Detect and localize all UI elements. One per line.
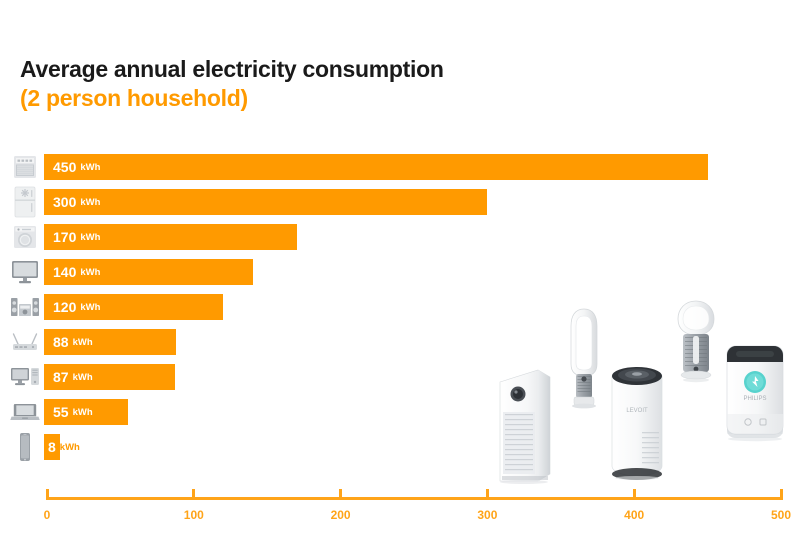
bar: 300kWh bbox=[44, 189, 487, 215]
bar-value-label: 450 bbox=[53, 160, 76, 174]
axis-tick bbox=[339, 489, 342, 500]
washing-machine-icon bbox=[8, 222, 42, 252]
axis-tick-label: 500 bbox=[771, 509, 791, 521]
bar-unit-label: kWh bbox=[73, 373, 93, 383]
axis-tick bbox=[486, 489, 489, 500]
bar: 120kWh bbox=[44, 294, 223, 320]
wifi-router-icon bbox=[8, 327, 42, 357]
bar-value-label: 140 bbox=[53, 265, 76, 279]
bar-value-label: 300 bbox=[53, 195, 76, 209]
refrigerator-icon bbox=[8, 187, 42, 217]
chart-page: Average annual electricity consumption (… bbox=[0, 0, 800, 533]
axis-tick-label: 300 bbox=[477, 509, 497, 521]
bar-value-label: 120 bbox=[53, 300, 76, 314]
bar-unit-label: kWh bbox=[80, 303, 100, 313]
chart-row: 300kWh bbox=[0, 187, 800, 217]
laptop-icon bbox=[8, 397, 42, 427]
product-photo-cluster: LEVOIT bbox=[488, 292, 793, 492]
bar-value-label: 55 bbox=[53, 405, 69, 419]
bar: 140kWh bbox=[44, 259, 253, 285]
bar: 87kWh bbox=[44, 364, 175, 390]
axis-tick bbox=[192, 489, 195, 500]
bar-unit-label: kWh bbox=[60, 443, 80, 453]
television-icon bbox=[8, 257, 42, 287]
bar: 88kWh bbox=[44, 329, 176, 355]
axis-tick-label: 100 bbox=[184, 509, 204, 521]
bar-unit-label: kWh bbox=[73, 338, 93, 348]
axis-tick bbox=[633, 489, 636, 500]
bar: 8kWh bbox=[44, 434, 60, 460]
desktop-computer-icon bbox=[8, 362, 42, 392]
chart-row: 170kWh bbox=[0, 222, 800, 252]
axis-line bbox=[47, 497, 781, 500]
bar-unit-label: kWh bbox=[73, 408, 93, 418]
xiaomi-tower-air-purifier bbox=[494, 368, 554, 484]
smartphone-icon bbox=[8, 432, 42, 462]
stereo-system-icon bbox=[8, 292, 42, 322]
bar-value-label: 170 bbox=[53, 230, 76, 244]
axis-tick-label: 200 bbox=[331, 509, 351, 521]
bar-unit-label: kWh bbox=[80, 198, 100, 208]
svg-text:LEVOIT: LEVOIT bbox=[626, 408, 648, 414]
bar: 55kWh bbox=[44, 399, 128, 425]
chart-row: 450kWh bbox=[0, 152, 800, 182]
philips-air-purifier: PHILIPS bbox=[722, 340, 788, 442]
page-title: Average annual electricity consumption (… bbox=[20, 56, 444, 112]
bar-unit-label: kWh bbox=[80, 233, 100, 243]
axis-tick bbox=[46, 489, 49, 500]
x-axis: 0100200300400500 bbox=[0, 487, 800, 533]
bar-value-label: 87 bbox=[53, 370, 69, 384]
title-line-2: (2 person household) bbox=[20, 85, 444, 112]
chart-row: 140kWh bbox=[0, 257, 800, 287]
bar: 450kWh bbox=[44, 154, 708, 180]
levoit-cylinder-air-purifier: LEVOIT bbox=[606, 354, 668, 480]
bar-value-label: 88 bbox=[53, 335, 69, 349]
svg-text:PHILIPS: PHILIPS bbox=[743, 396, 766, 402]
axis-tick bbox=[780, 489, 783, 500]
bar-value-label: 8 bbox=[48, 440, 56, 454]
bar: 170kWh bbox=[44, 224, 297, 250]
dyson-desk-fan-purifier bbox=[674, 298, 718, 392]
bar-unit-label: kWh bbox=[80, 163, 100, 173]
axis-tick-label: 400 bbox=[624, 509, 644, 521]
axis-tick-label: 0 bbox=[44, 509, 51, 521]
oven-icon bbox=[8, 152, 42, 182]
title-line-1: Average annual electricity consumption bbox=[20, 56, 444, 83]
bar-unit-label: kWh bbox=[80, 268, 100, 278]
dyson-bladeless-tower-purifier bbox=[566, 306, 602, 412]
